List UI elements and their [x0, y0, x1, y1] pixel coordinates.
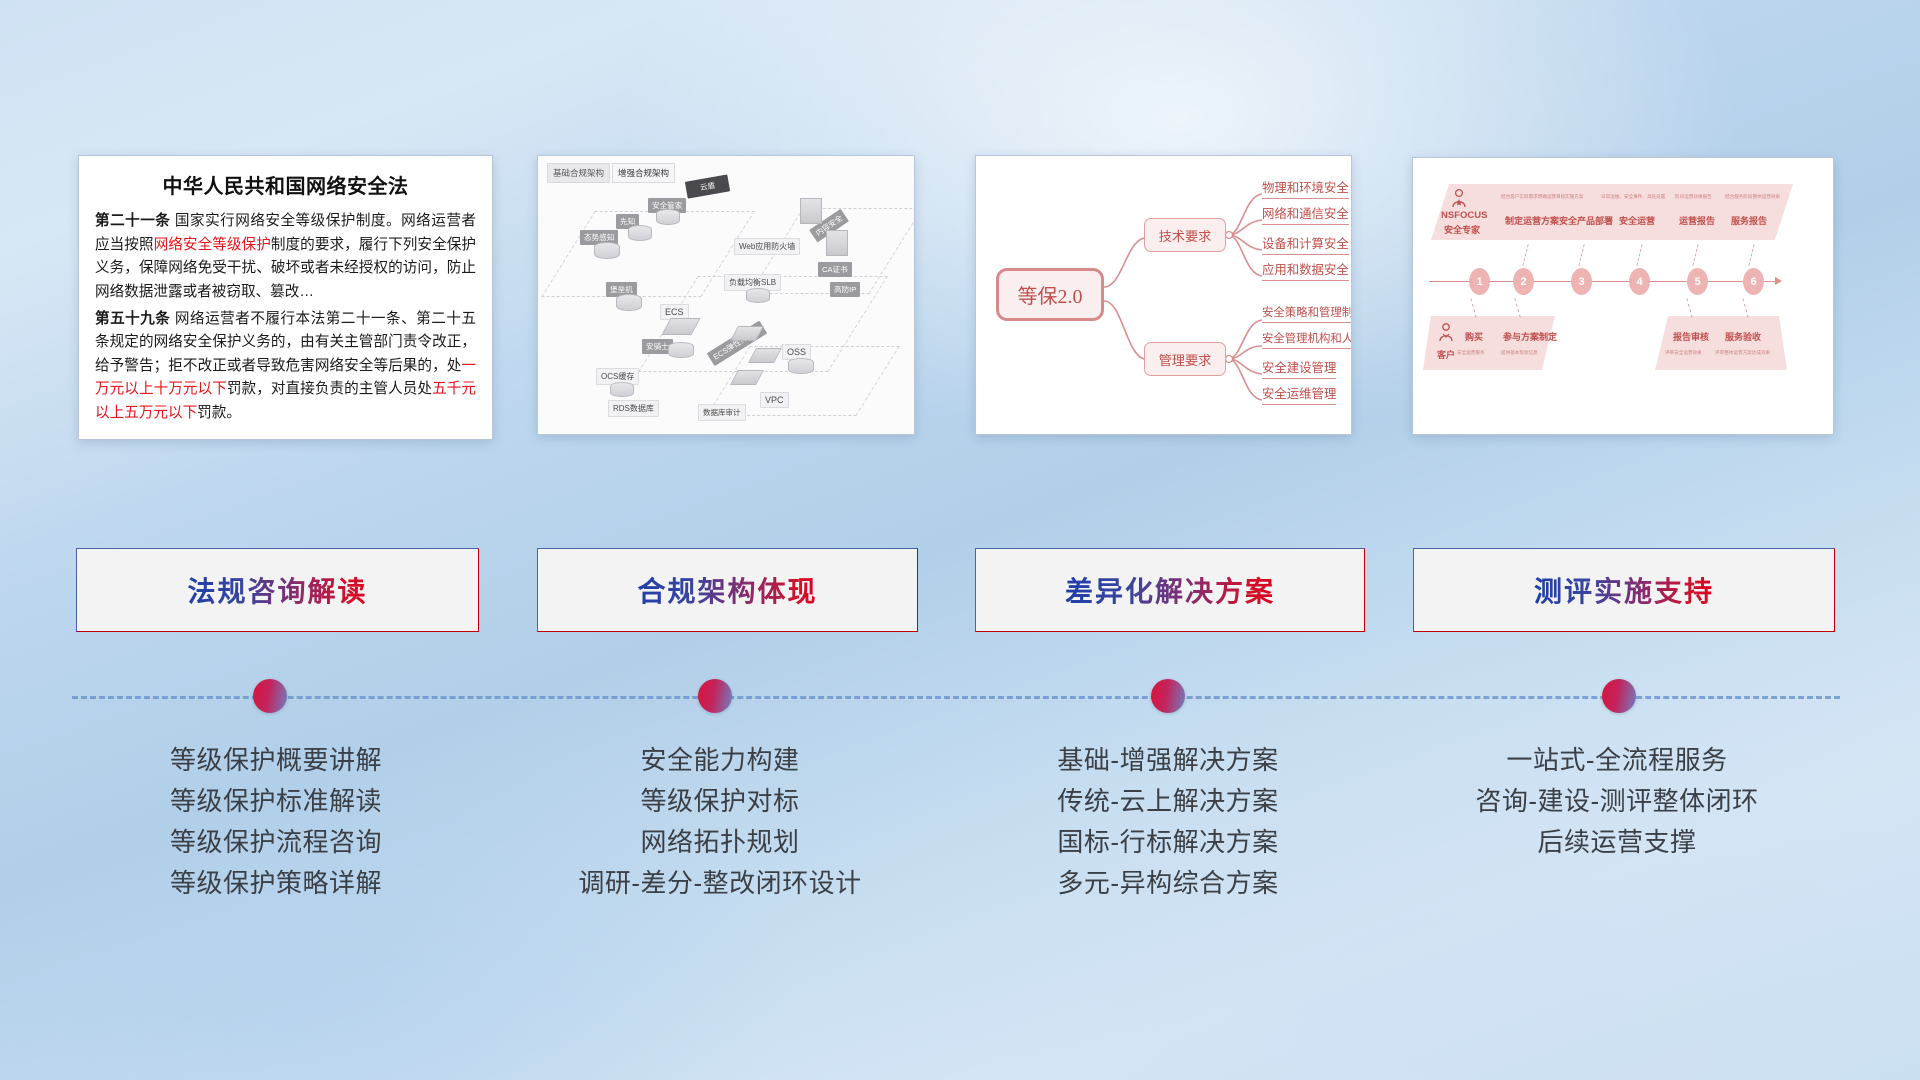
list-item: 等级保护对标 [500, 781, 940, 822]
list-item: 等级保护概要讲解 [56, 740, 496, 781]
list-item: 等级保护策略详解 [56, 863, 496, 904]
rail-node-1[interactable] [253, 679, 287, 713]
list-item: 咨询-建设-测评整体闭环 [1392, 781, 1842, 822]
detail-list-1: 等级保护概要讲解 等级保护标准解读 等级保护流程咨询 等级保护策略详解 [56, 740, 496, 904]
heading-box-compliance-architecture[interactable]: 合规架构体现 [537, 548, 918, 632]
list-item: 多元-异构综合方案 [948, 863, 1388, 904]
list-item: 传统-云上解决方案 [948, 781, 1388, 822]
list-item: 等级保护流程咨询 [56, 822, 496, 863]
list-item: 安全能力构建 [500, 740, 940, 781]
list-item: 调研-差分-整改闭环设计 [500, 863, 940, 904]
heading-label-3: 差异化解决方案 [1065, 570, 1275, 610]
list-item: 网络拓扑规划 [500, 822, 940, 863]
list-item: 国标-行标解决方案 [948, 822, 1388, 863]
list-item: 后续运营支撑 [1392, 822, 1842, 863]
heading-label-1: 法规咨询解读 [187, 570, 367, 610]
heading-box-differentiated-solution[interactable]: 差异化解决方案 [975, 548, 1365, 632]
heading-box-assessment-support[interactable]: 测评实施支持 [1413, 548, 1835, 632]
rail-node-4[interactable] [1602, 679, 1636, 713]
list-item: 一站式-全流程服务 [1392, 740, 1842, 781]
detail-list-4: 一站式-全流程服务 咨询-建设-测评整体闭环 后续运营支撑 [1392, 740, 1842, 863]
timeline-rail [72, 696, 1840, 699]
heading-box-regulation-consulting[interactable]: 法规咨询解读 [76, 548, 479, 632]
detail-list-2: 安全能力构建 等级保护对标 网络拓扑规划 调研-差分-整改闭环设计 [500, 740, 940, 904]
heading-label-2: 合规架构体现 [637, 570, 817, 610]
list-item: 基础-增强解决方案 [948, 740, 1388, 781]
rail-node-3[interactable] [1151, 679, 1185, 713]
rail-node-2[interactable] [698, 679, 732, 713]
section-headings: 法规咨询解读 合规架构体现 差异化解决方案 测评实施支持 等级保护概要讲解 等级… [0, 0, 1920, 1080]
detail-list-3: 基础-增强解决方案 传统-云上解决方案 国标-行标解决方案 多元-异构综合方案 [948, 740, 1388, 904]
list-item: 等级保护标准解读 [56, 781, 496, 822]
heading-label-4: 测评实施支持 [1534, 570, 1714, 610]
